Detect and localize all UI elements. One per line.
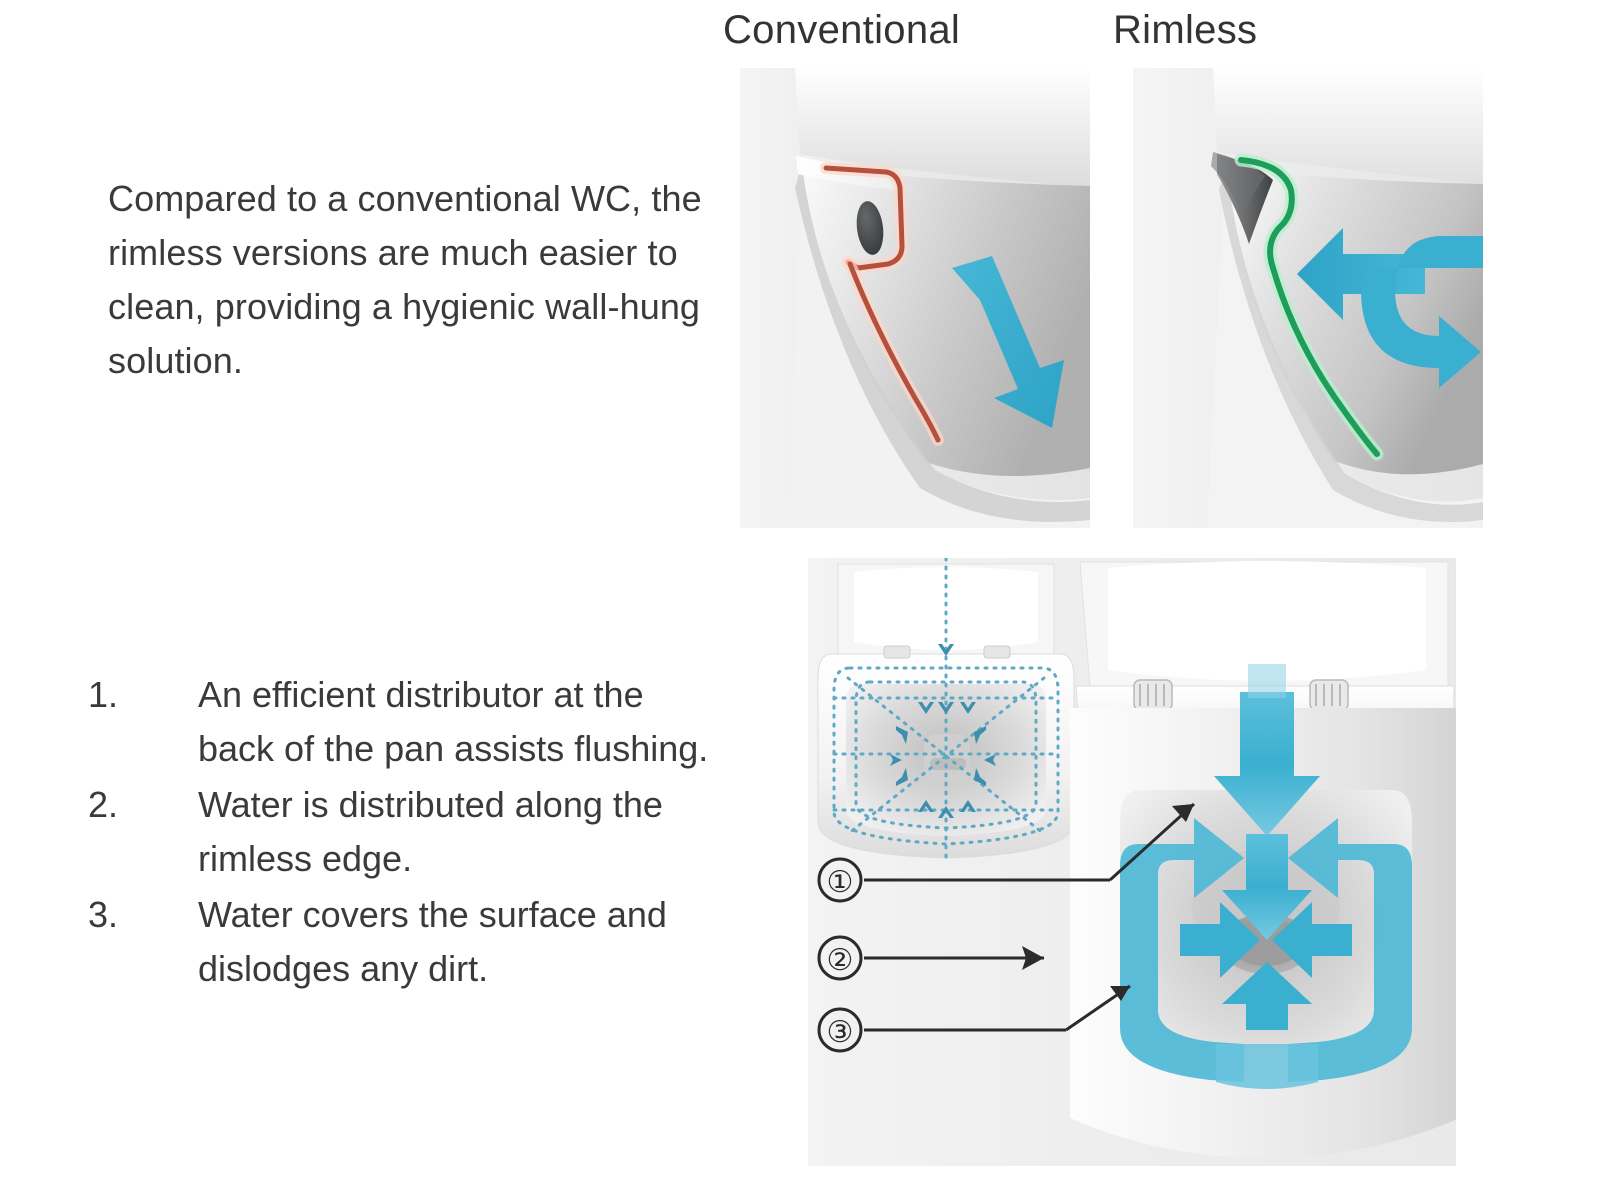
callout-1-label: ①: [827, 866, 854, 899]
water-bottom-channel: [1216, 1044, 1318, 1089]
lid-inner: [1108, 561, 1426, 681]
list-item-number: 1.: [88, 668, 198, 776]
figure-conventional-rim: [740, 68, 1090, 528]
intro-paragraph: Compared to a conventional WC, the rimle…: [108, 172, 728, 388]
list-item: 2. Water is distributed along the rimles…: [88, 778, 728, 886]
conventional-rim-illustration: [740, 68, 1090, 528]
steps-list: 1. An efficient distributor at the back …: [88, 668, 728, 998]
topview-spray-diagram: [818, 558, 1074, 858]
header-conventional: Conventional: [723, 8, 960, 53]
callout-2-label: ②: [827, 944, 854, 977]
rimless-edge-illustration: [1133, 68, 1483, 528]
hinge-right: [984, 646, 1010, 658]
list-item-number: 3.: [88, 888, 198, 996]
list-item-text: An efficient distributor at the back of …: [198, 668, 728, 776]
callout-3-label: ③: [827, 1016, 854, 1049]
list-item: 3. Water covers the surface and dislodge…: [88, 888, 728, 996]
figure-flush-flow-topview: ① ② ③: [808, 558, 1456, 1166]
list-item-text: Water is distributed along the rimless e…: [198, 778, 728, 886]
list-item-number: 2.: [88, 778, 198, 886]
topview-flow-diagram: [1070, 561, 1456, 1158]
hinge-left: [884, 646, 910, 658]
figure-rimless-edge: [1133, 68, 1483, 528]
infographic-page: Compared to a conventional WC, the rimle…: [0, 0, 1600, 1200]
list-item-text: Water covers the surface and dislodges a…: [198, 888, 728, 996]
list-item: 1. An efficient distributor at the back …: [88, 668, 728, 776]
header-rimless: Rimless: [1113, 8, 1257, 53]
flush-flow-illustration: ① ② ③: [808, 558, 1456, 1166]
